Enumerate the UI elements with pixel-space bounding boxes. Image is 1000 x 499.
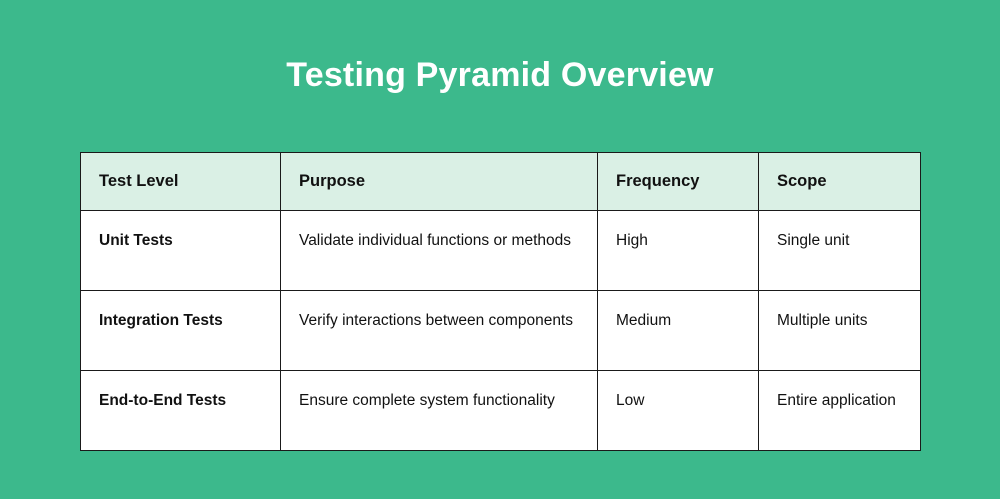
- column-header-frequency: Frequency: [598, 153, 759, 211]
- cell-purpose: Verify interactions between components: [281, 290, 598, 370]
- cell-frequency: Medium: [598, 290, 759, 370]
- column-header-test-level: Test Level: [81, 153, 281, 211]
- table-header: Test Level Purpose Frequency Scope: [81, 153, 921, 211]
- table-row: Unit Tests Validate individual functions…: [81, 210, 921, 290]
- cell-scope: Entire application: [759, 370, 921, 450]
- cell-purpose: Validate individual functions or methods: [281, 210, 598, 290]
- testing-pyramid-table-container: Test Level Purpose Frequency Scope Unit …: [80, 152, 920, 451]
- cell-purpose: Ensure complete system functionality: [281, 370, 598, 450]
- cell-scope: Multiple units: [759, 290, 921, 370]
- table-header-row: Test Level Purpose Frequency Scope: [81, 153, 921, 211]
- cell-frequency: High: [598, 210, 759, 290]
- cell-test-level: End-to-End Tests: [81, 370, 281, 450]
- column-header-purpose: Purpose: [281, 153, 598, 211]
- cell-scope: Single unit: [759, 210, 921, 290]
- cell-test-level: Unit Tests: [81, 210, 281, 290]
- table-body: Unit Tests Validate individual functions…: [81, 210, 921, 450]
- column-header-scope: Scope: [759, 153, 921, 211]
- table-row: End-to-End Tests Ensure complete system …: [81, 370, 921, 450]
- page-title: Testing Pyramid Overview: [0, 57, 1000, 94]
- testing-pyramid-table: Test Level Purpose Frequency Scope Unit …: [80, 152, 921, 451]
- table-row: Integration Tests Verify interactions be…: [81, 290, 921, 370]
- cell-frequency: Low: [598, 370, 759, 450]
- cell-test-level: Integration Tests: [81, 290, 281, 370]
- page-root: Testing Pyramid Overview Test Level Purp…: [0, 0, 1000, 499]
